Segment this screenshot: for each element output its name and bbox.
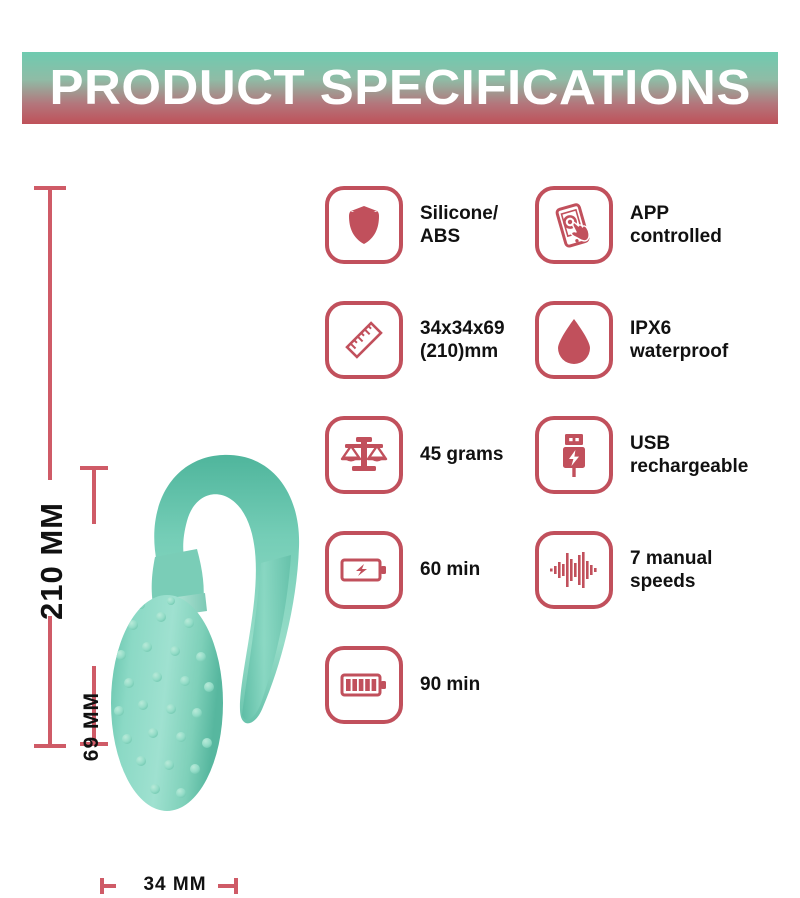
battery-charging-icon bbox=[325, 531, 403, 609]
product-panel: 210 MM 69 MM bbox=[0, 150, 325, 780]
page-title: PRODUCT SPECIFICATIONS bbox=[49, 64, 750, 113]
shield-icon bbox=[325, 186, 403, 264]
spec-item-runtime[interactable]: 60 min bbox=[325, 531, 555, 609]
spec-item-app-control[interactable]: APP controlled bbox=[535, 186, 765, 264]
spec-label-app-control: APP controlled bbox=[630, 202, 722, 248]
spec-item-dimensions[interactable]: 34x34x69 (210)mm bbox=[325, 301, 555, 379]
spec-label-speeds: 7 manual speeds bbox=[630, 547, 712, 593]
spec-grid: Silicone/ ABS bbox=[325, 186, 800, 766]
soundwave-icon bbox=[535, 531, 613, 609]
usb-plug-icon bbox=[535, 416, 613, 494]
spec-column-right: APP controlled IPX6 waterproof bbox=[535, 186, 765, 646]
spec-label-dimensions: 34x34x69 (210)mm bbox=[420, 317, 505, 363]
spec-item-speeds[interactable]: 7 manual speeds bbox=[535, 531, 765, 609]
spec-label-material: Silicone/ ABS bbox=[420, 202, 498, 248]
spec-label-weight: 45 grams bbox=[420, 443, 503, 466]
water-drop-icon bbox=[535, 301, 613, 379]
spec-item-material[interactable]: Silicone/ ABS bbox=[325, 186, 555, 264]
ruler-icon bbox=[325, 301, 403, 379]
dimension-line-lower bbox=[48, 616, 52, 748]
spec-label-waterproof: IPX6 waterproof bbox=[630, 317, 728, 363]
balance-scale-icon bbox=[325, 416, 403, 494]
battery-full-icon bbox=[325, 646, 403, 724]
dimension-label-34mm-wrap: 34 MM bbox=[100, 872, 250, 898]
product-illustration bbox=[95, 305, 325, 875]
spec-label-charge-time: 90 min bbox=[420, 673, 480, 696]
spec-label-runtime: 60 min bbox=[420, 558, 480, 581]
phone-touch-icon bbox=[535, 186, 613, 264]
dimension-label-34mm: 34 MM bbox=[143, 874, 206, 896]
spec-column-left: Silicone/ ABS bbox=[325, 186, 555, 761]
dimension-cap-bottom bbox=[34, 744, 66, 748]
spec-label-usb: USB rechargeable bbox=[630, 432, 748, 478]
spec-item-waterproof[interactable]: IPX6 waterproof bbox=[535, 301, 765, 379]
header-banner: PRODUCT SPECIFICATIONS bbox=[22, 52, 778, 124]
product-body bbox=[111, 595, 223, 811]
spec-item-charge-time[interactable]: 90 min bbox=[325, 646, 555, 724]
dimension-label-210mm: 210 MM bbox=[34, 502, 70, 620]
spec-item-usb[interactable]: USB rechargeable bbox=[535, 416, 765, 494]
spec-item-weight[interactable]: 45 grams bbox=[325, 416, 555, 494]
dimension-line-upper bbox=[48, 186, 52, 480]
